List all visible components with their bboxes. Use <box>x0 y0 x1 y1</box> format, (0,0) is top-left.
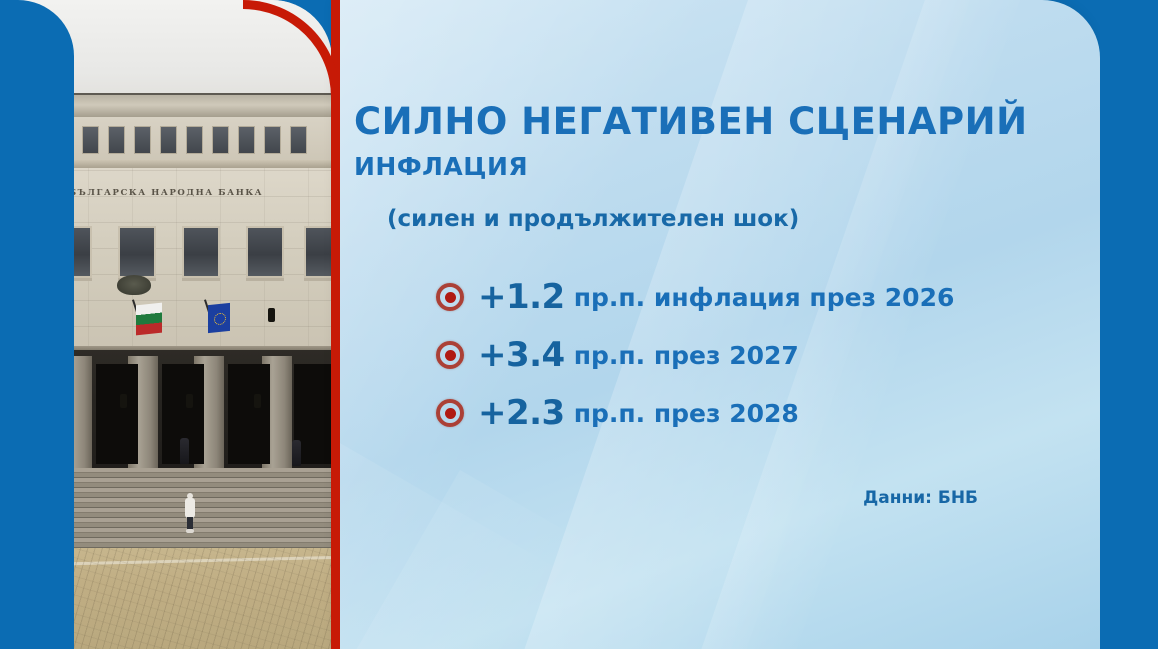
right-blue-frame-bar <box>1100 0 1158 649</box>
bullet-list: +1.2 пр.п. инфлация през 2026 +3.4 пр.п.… <box>436 268 1076 442</box>
list-item: +2.3 пр.п. през 2028 <box>436 384 1076 442</box>
eu-flag-icon <box>208 303 230 333</box>
bulgarian-flag-icon <box>136 303 162 336</box>
bullet-value: +1.2 <box>478 277 565 317</box>
bullet-value: +3.4 <box>478 335 565 375</box>
target-bullet-icon <box>436 399 464 427</box>
slide-title: СИЛНО НЕГАТИВЕН СЦЕНАРИЙ <box>354 100 1028 143</box>
bullet-text: пр.п. през 2027 <box>574 341 799 370</box>
slide-parenthetical: (силен и продължителен шок) <box>387 206 799 232</box>
content-panel: СИЛНО НЕГАТИВЕН СЦЕНАРИЙ ИНФЛАЦИЯ (силен… <box>340 0 1100 649</box>
person-at-entrance <box>180 438 189 464</box>
person-walking <box>185 493 195 533</box>
target-bullet-icon <box>436 341 464 369</box>
bullet-text: пр.п. инфлация през 2026 <box>574 283 955 312</box>
person-right <box>292 440 301 466</box>
bullet-value: +2.3 <box>478 393 565 433</box>
slide-root: БЪЛГАРСКА НАРОДНА БАНКА <box>0 0 1158 649</box>
list-item: +3.4 пр.п. през 2027 <box>436 326 1076 384</box>
left-blue-frame-bar <box>0 0 74 649</box>
list-item: +1.2 пр.п. инфлация през 2026 <box>436 268 1076 326</box>
source-attribution: Данни: БНБ <box>863 488 978 508</box>
bullet-text: пр.п. през 2028 <box>574 399 799 428</box>
red-accent-stripe <box>331 0 340 649</box>
slide-subtitle: ИНФЛАЦИЯ <box>354 152 528 181</box>
target-bullet-icon <box>436 283 464 311</box>
